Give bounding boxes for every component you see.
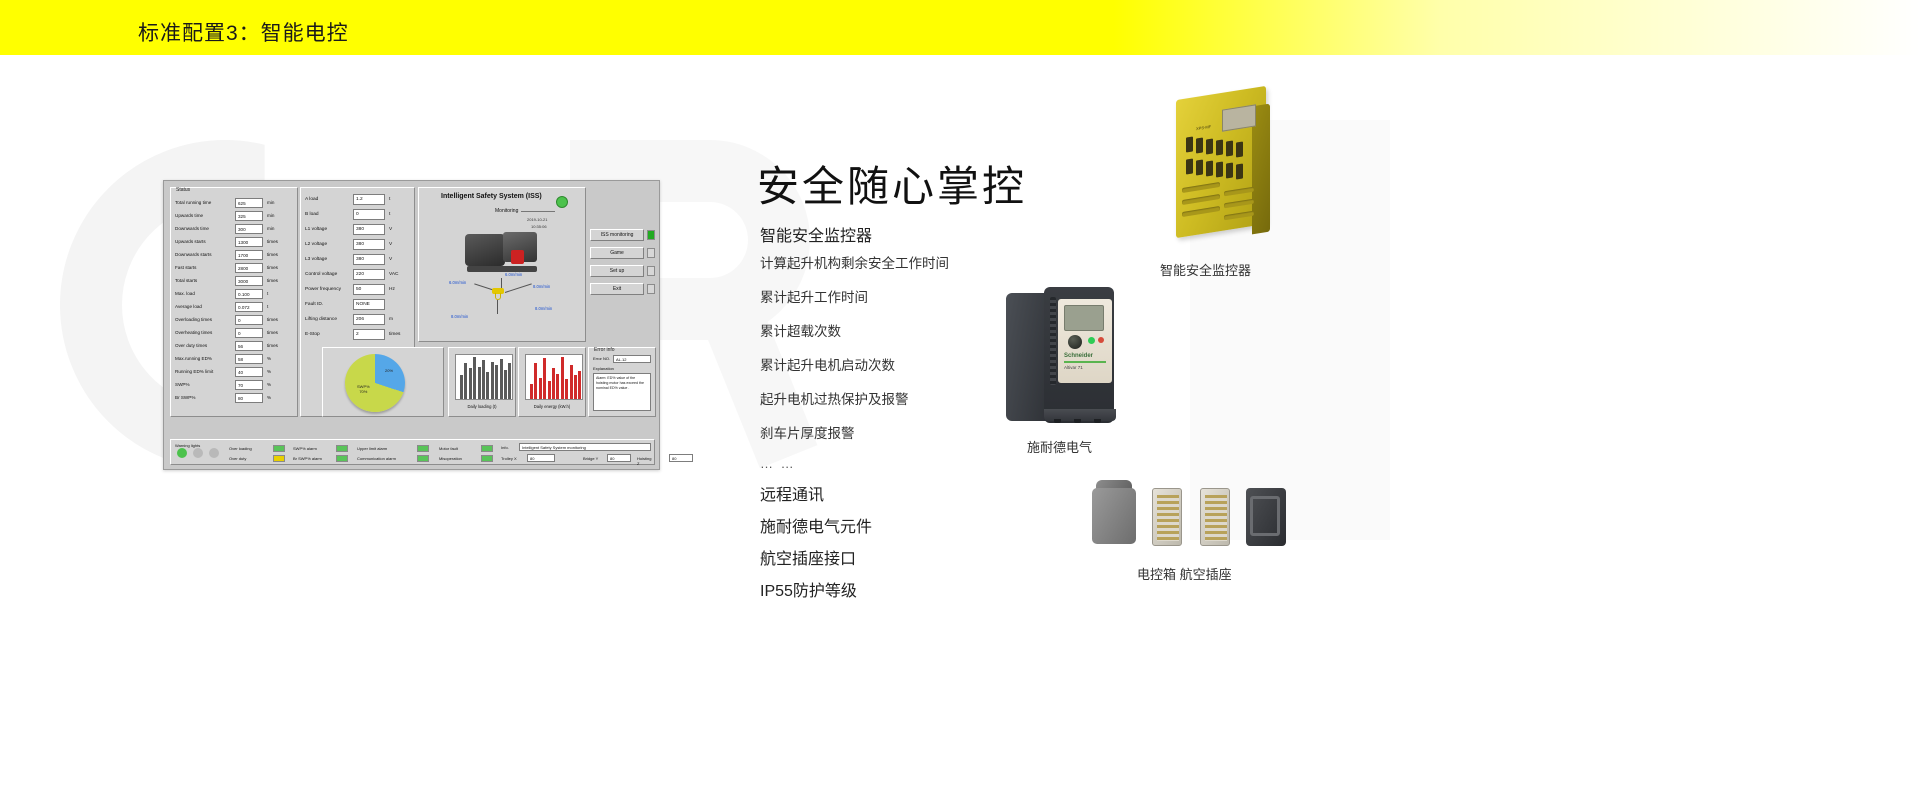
chart-bar <box>539 378 542 399</box>
chart-bar <box>574 375 577 399</box>
chart-bar <box>464 363 467 399</box>
load-row-value[interactable]: 1.2 <box>353 194 385 205</box>
chart-bar <box>556 374 559 399</box>
status-row-unit: % <box>267 395 293 400</box>
warn-led-0 <box>273 445 285 452</box>
status-row-value[interactable]: 70 <box>235 380 263 390</box>
chart-bar <box>543 358 546 399</box>
bridge-label: Bridge Y <box>583 456 598 461</box>
rope-line-right <box>505 283 532 293</box>
speed-label-1: 6.0m/min <box>505 272 522 277</box>
status-row-unit: times <box>267 343 293 348</box>
load-row-value[interactable]: 50 <box>353 284 385 295</box>
chart-bar <box>491 362 494 399</box>
feature-big-1: 施耐德电气元件 <box>760 513 1120 537</box>
status-panel-label: Status <box>176 187 190 193</box>
load-row-name: Fault ID. <box>305 302 353 307</box>
status-panel: Status Total running time625minUpwards t… <box>170 187 298 417</box>
schneider-drive-image: Schneider Altivar 71 <box>1006 283 1126 428</box>
warn-led-2 <box>336 445 348 452</box>
status-row-unit: t <box>267 304 293 309</box>
status-row-unit: % <box>267 369 293 374</box>
feature-big-0: 远程通讯 <box>760 481 1120 505</box>
load-row-value[interactable]: NONE <box>353 299 385 310</box>
chart-bar <box>504 370 507 399</box>
warn-item-6: Motor fault <box>439 446 458 451</box>
status-row-name: SWP% <box>175 382 235 387</box>
status-row-unit: times <box>267 239 293 244</box>
daily-energy-bars <box>525 354 583 400</box>
chart-bar <box>478 367 481 399</box>
status-row-value[interactable]: 2800 <box>235 263 263 273</box>
load-row-unit: t <box>389 212 390 217</box>
daily-energy-caption: Daily energy (kW.h) <box>519 404 585 409</box>
status-row-name: Upwards starts <box>175 239 235 244</box>
status-row-value[interactable]: 3000 <box>235 276 263 286</box>
monitoring-date: 2019-10-21 <box>527 217 547 222</box>
daily-loading-bars <box>455 354 513 400</box>
status-row-name: Overloading times <box>175 317 235 322</box>
chart-bar <box>495 365 498 399</box>
hook-icon <box>491 288 505 300</box>
monitoring-panel: Intelligent Safety System (ISS) Monitori… <box>418 187 586 342</box>
status-row-value[interactable]: 58 <box>235 354 263 364</box>
info-label: Info. <box>501 445 509 450</box>
indicator-lamp-1 <box>193 448 203 458</box>
chart-bar <box>552 368 555 399</box>
status-row-value[interactable]: 1700 <box>235 250 263 260</box>
status-knob[interactable] <box>556 196 568 208</box>
feature-big-3: IP55防护等级 <box>760 577 1120 601</box>
status-row-name: Upwards time <box>175 213 235 218</box>
status-row-name: Overheating times <box>175 330 235 335</box>
status-row-unit: min <box>267 213 293 218</box>
status-row-value[interactable]: 0 <box>235 328 263 338</box>
status-row-value[interactable]: 40 <box>235 367 263 377</box>
product-label-safety-monitor: 智能安全监控器 <box>1160 260 1251 279</box>
speed-label-4: 8.0m/min <box>451 314 468 319</box>
status-row-name: Total starts <box>175 278 235 283</box>
pie-slice-a-label: 20% <box>385 368 393 373</box>
load-row-unit: V <box>389 242 392 247</box>
load-row-name: B load <box>305 212 353 217</box>
load-row-name: L2 voltage <box>305 242 353 247</box>
chart-bar <box>561 357 564 399</box>
load-row-name: Lifting distance <box>305 317 353 322</box>
speed-label-0: 6.0m/min <box>449 280 466 285</box>
iss-button-led <box>647 248 655 258</box>
status-row-value[interactable]: 300 <box>235 224 263 234</box>
status-row-value[interactable]: 1300 <box>235 237 263 247</box>
hoisting-label: Hoisting Z <box>637 456 654 466</box>
status-row-unit: min <box>267 226 293 231</box>
trolley-label: Trolley X <box>501 456 517 461</box>
status-row-name: Running ED% limit <box>175 369 235 374</box>
load-row-name: A load <box>305 197 353 202</box>
chart-bar <box>469 368 472 399</box>
warn-led-4 <box>417 445 429 452</box>
daily-energy-chart-panel: Daily energy (kW.h) <box>518 347 586 417</box>
bridge-value[interactable]: 80 <box>607 454 631 462</box>
error-info-label: Error info <box>594 347 615 353</box>
daily-loading-chart-panel: Daily loading (t) <box>448 347 516 417</box>
status-row-value[interactable]: 0.100 <box>235 289 263 299</box>
warning-lights-bar: Warning lights Over loading Over duty SW… <box>170 439 655 465</box>
status-row-name: Total running time <box>175 200 235 205</box>
monitoring-label: Monitoring <box>495 208 555 214</box>
status-row-unit: times <box>267 330 293 335</box>
status-row-value[interactable]: 56 <box>235 341 263 351</box>
status-row-value[interactable]: 80 <box>235 393 263 403</box>
warn-item-4: Upper limit alarm <box>357 446 387 451</box>
load-row-name: Control voltage <box>305 272 353 277</box>
load-row-unit: m <box>389 317 393 322</box>
status-row-name: Average load <box>175 304 235 309</box>
warn-item-3: Br SWP% alarm <box>293 456 322 461</box>
chart-bar <box>548 381 551 399</box>
chart-bar <box>482 360 485 399</box>
page-title: 标准配置3：智能电控 <box>138 17 349 47</box>
warn-item-5: Communication alarm <box>357 456 396 461</box>
daily-loading-caption: Daily loading (t) <box>449 404 515 409</box>
warn-led-7 <box>481 455 493 462</box>
chart-bar <box>565 379 568 399</box>
status-row-unit: times <box>267 278 293 283</box>
iss-software-screenshot: Status Total running time625minUpwards t… <box>163 180 660 470</box>
status-row-name: Downwards time <box>175 226 235 231</box>
load-row-value[interactable]: 2 <box>353 329 385 340</box>
iss-title: Intelligent Safety System (ISS) <box>441 193 542 200</box>
error-info-panel: Error info Error NO. AL.12 Explanation A… <box>588 347 656 417</box>
load-row-unit: V <box>389 227 392 232</box>
indicator-lamp-green <box>177 448 187 458</box>
status-row-unit: % <box>267 382 293 387</box>
chart-bar <box>530 384 533 399</box>
error-no-value: AL.12 <box>613 355 651 363</box>
feature-ellipsis: … … <box>760 456 1120 471</box>
chart-bar <box>578 371 581 399</box>
warn-led-1 <box>273 455 285 462</box>
status-row-value[interactable]: 0.072 <box>235 302 263 312</box>
load-row-name: L1 voltage <box>305 227 353 232</box>
iss-button-exit[interactable]: Exit <box>590 283 644 295</box>
iss-button-led <box>647 266 655 276</box>
load-row-unit: VAC <box>389 272 399 277</box>
warn-led-5 <box>417 455 429 462</box>
status-row-name: Downwards starts <box>175 252 235 257</box>
chart-bar <box>500 359 503 399</box>
load-row-value[interactable]: 0 <box>353 209 385 220</box>
load-row-value[interactable]: 380 <box>353 254 385 265</box>
status-row-value[interactable]: 625 <box>235 198 263 208</box>
load-row-unit: t <box>389 197 390 202</box>
trolley-value[interactable]: 80 <box>527 454 555 462</box>
error-explanation-label: Explanation <box>593 366 614 371</box>
error-explanation-text: Alarm: ED% value of the hoisting motor h… <box>593 373 651 411</box>
hoisting-value[interactable]: 80 <box>669 454 693 462</box>
warn-item-7: Misoperation <box>439 456 462 461</box>
status-row-name: Fast starts <box>175 265 235 270</box>
status-row-name: Br SWP% <box>175 395 235 400</box>
warn-item-0: Over loading <box>229 446 252 451</box>
iss-button-led <box>647 284 655 294</box>
pie-chart-panel: 20% SWP%70% <box>322 347 444 417</box>
load-row-name: E-Stop <box>305 332 353 337</box>
status-row-unit: times <box>267 317 293 322</box>
monitoring-text: Monitoring <box>495 208 518 214</box>
feature-big-2: 航空插座接口 <box>760 545 1120 569</box>
chart-bar <box>473 357 476 399</box>
chart-bar <box>534 363 537 399</box>
product-label-schneider: 施耐德电气 <box>1027 437 1092 456</box>
info-value[interactable]: Intelligent Safety System monitoring <box>519 443 651 451</box>
pie-slice-b-label: SWP%70% <box>357 384 370 394</box>
warn-item-2: SWP% alarm <box>293 446 317 451</box>
chart-bar <box>508 363 511 399</box>
load-row-value[interactable]: 380 <box>353 224 385 235</box>
load-row-name: Power frequency <box>305 287 353 292</box>
chart-bar <box>486 372 489 399</box>
status-row-unit: min <box>267 200 293 205</box>
product-label-connectors: 电控箱 航空插座 <box>1137 564 1232 583</box>
safety-relay-image: XPS-MF <box>1156 85 1284 237</box>
load-row-name: L3 voltage <box>305 257 353 262</box>
status-row-unit: times <box>267 265 293 270</box>
iss-button-led <box>647 230 655 240</box>
pie-chart <box>345 354 405 412</box>
error-no-label: Error NO. <box>593 356 610 361</box>
headline: 安全随心掌控 <box>757 153 1027 214</box>
rope-line-down <box>497 300 498 314</box>
chart-bar <box>570 365 573 399</box>
load-row-value[interactable]: 220 <box>353 269 385 280</box>
status-row-name: Max.running ED% <box>175 356 235 361</box>
load-row-unit: V <box>389 257 392 262</box>
iss-button-game[interactable]: Game <box>590 247 644 259</box>
speed-label-2: 8.0m/min <box>533 284 550 289</box>
status-row-value[interactable]: 0 <box>235 315 263 325</box>
feature-sub-0: 计算起升机构剩余安全工作时间 <box>760 252 1120 272</box>
load-row-unit: Hz <box>389 287 395 292</box>
iss-button-iss-monitoring[interactable]: ISS monitoring <box>590 229 644 241</box>
hoist-illustration <box>459 226 545 278</box>
status-row-unit: times <box>267 252 293 257</box>
warn-led-6 <box>481 445 493 452</box>
load-row-value[interactable]: 206 <box>353 314 385 325</box>
status-row-unit: % <box>267 356 293 361</box>
warn-item-1: Over duty <box>229 456 246 461</box>
load-row-value[interactable]: 380 <box>353 239 385 250</box>
banner-divider <box>0 55 1920 69</box>
warn-led-3 <box>336 455 348 462</box>
indicator-lamp-2 <box>209 448 219 458</box>
status-row-name: Over duty times <box>175 343 235 348</box>
load-row-unit: times <box>389 332 400 337</box>
iss-button-set-up[interactable]: Set up <box>590 265 644 277</box>
status-row-name: Max. load <box>175 291 235 296</box>
feature-main: 智能安全监控器 <box>760 222 1120 246</box>
speed-label-3: 8.0m/min <box>535 306 552 311</box>
status-row-unit: t <box>267 291 293 296</box>
status-row-value[interactable]: 325 <box>235 211 263 221</box>
chart-bar <box>460 375 463 399</box>
